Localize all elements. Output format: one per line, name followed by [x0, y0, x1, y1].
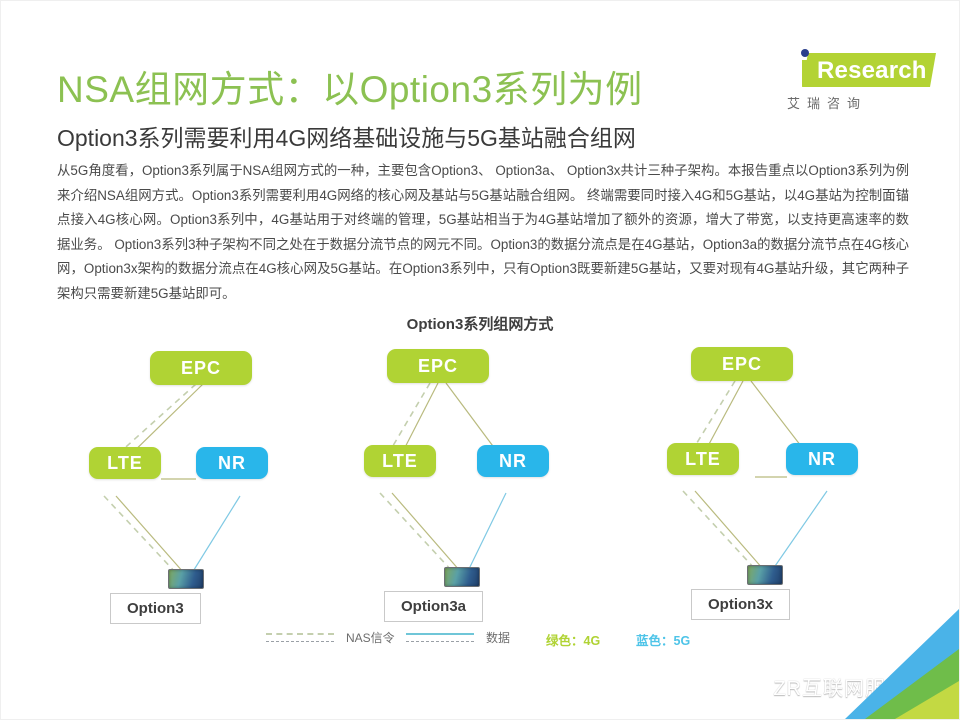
diagram-option3x-lines: [631, 341, 921, 631]
body-paragraph: 从5G角度看，Option3系列属于NSA组网方式的一种，主要包含Option3…: [57, 159, 909, 306]
legend-item-data: 数据: [406, 629, 510, 646]
device-ue-icon: [444, 567, 480, 587]
diagram-panels: EPC LTE NR Option3 EPC LTE NR Opt: [1, 341, 960, 631]
legend-label-nas: NAS信令: [346, 629, 395, 646]
legend-item-blue: 蓝色：5G: [636, 630, 690, 649]
node-epc[interactable]: EPC: [150, 351, 252, 385]
node-nr[interactable]: NR: [196, 447, 268, 479]
diagram-option3x: EPC LTE NR Option3x: [631, 341, 921, 631]
node-lte[interactable]: LTE: [364, 445, 436, 477]
legend-label-blue: 蓝色：5G: [636, 630, 690, 649]
watermark-text: ZR互联网服务: [773, 672, 907, 701]
diagram-caption: Option3: [110, 593, 201, 624]
legend-solid-top: [406, 633, 474, 635]
device-ue-icon: [747, 565, 783, 585]
legend-dash-bottom: [406, 641, 474, 642]
device-ue-icon: [168, 569, 204, 589]
node-epc[interactable]: EPC: [387, 349, 489, 383]
logo-wordmark: Research: [817, 57, 927, 85]
page-title: NSA组网方式：以Option3系列为例: [57, 59, 643, 113]
node-nr[interactable]: NR: [786, 443, 858, 475]
legend-item-nas: NAS信令: [266, 629, 395, 646]
iresearch-logo: Research 艾瑞咨询: [767, 47, 937, 117]
legend-item-green: 绿色：4G: [546, 630, 600, 649]
legend-dash-bottom: [266, 641, 334, 642]
diagram-legend: NAS信令 数据 绿色：4G 蓝色：5G: [1, 627, 960, 657]
diagram-option3a-lines: [346, 341, 636, 631]
diagram-option3: EPC LTE NR Option3: [56, 341, 346, 631]
legend-swatch-dashed: [266, 631, 334, 645]
diagram-caption: Option3x: [691, 589, 790, 620]
node-epc[interactable]: EPC: [691, 347, 793, 381]
logo-mark: Research: [785, 47, 935, 91]
logo-i-stem: [802, 60, 809, 86]
slide-canvas: NSA组网方式：以Option3系列为例 Option3系列需要利用4G网络基础…: [0, 0, 960, 720]
diagram-section-title: Option3系列组网方式: [1, 313, 959, 334]
legend-label-green: 绿色：4G: [546, 630, 600, 649]
wechat-icon: [733, 674, 763, 700]
watermark: ZR互联网服务: [733, 672, 907, 701]
logo-chinese-name: 艾瑞咨询: [787, 93, 867, 112]
legend-label-data: 数据: [486, 629, 510, 646]
logo-i-dot-icon: [801, 49, 809, 57]
node-lte[interactable]: LTE: [89, 447, 161, 479]
node-nr[interactable]: NR: [477, 445, 549, 477]
legend-dash-top: [266, 633, 334, 635]
page-subtitle: Option3系列需要利用4G网络基础设施与5G基站融合组网: [57, 119, 636, 153]
legend-swatch-solid: [406, 631, 474, 645]
diagram-option3a: EPC LTE NR Option3a: [346, 341, 636, 631]
diagram-caption: Option3a: [384, 591, 483, 622]
node-lte[interactable]: LTE: [667, 443, 739, 475]
